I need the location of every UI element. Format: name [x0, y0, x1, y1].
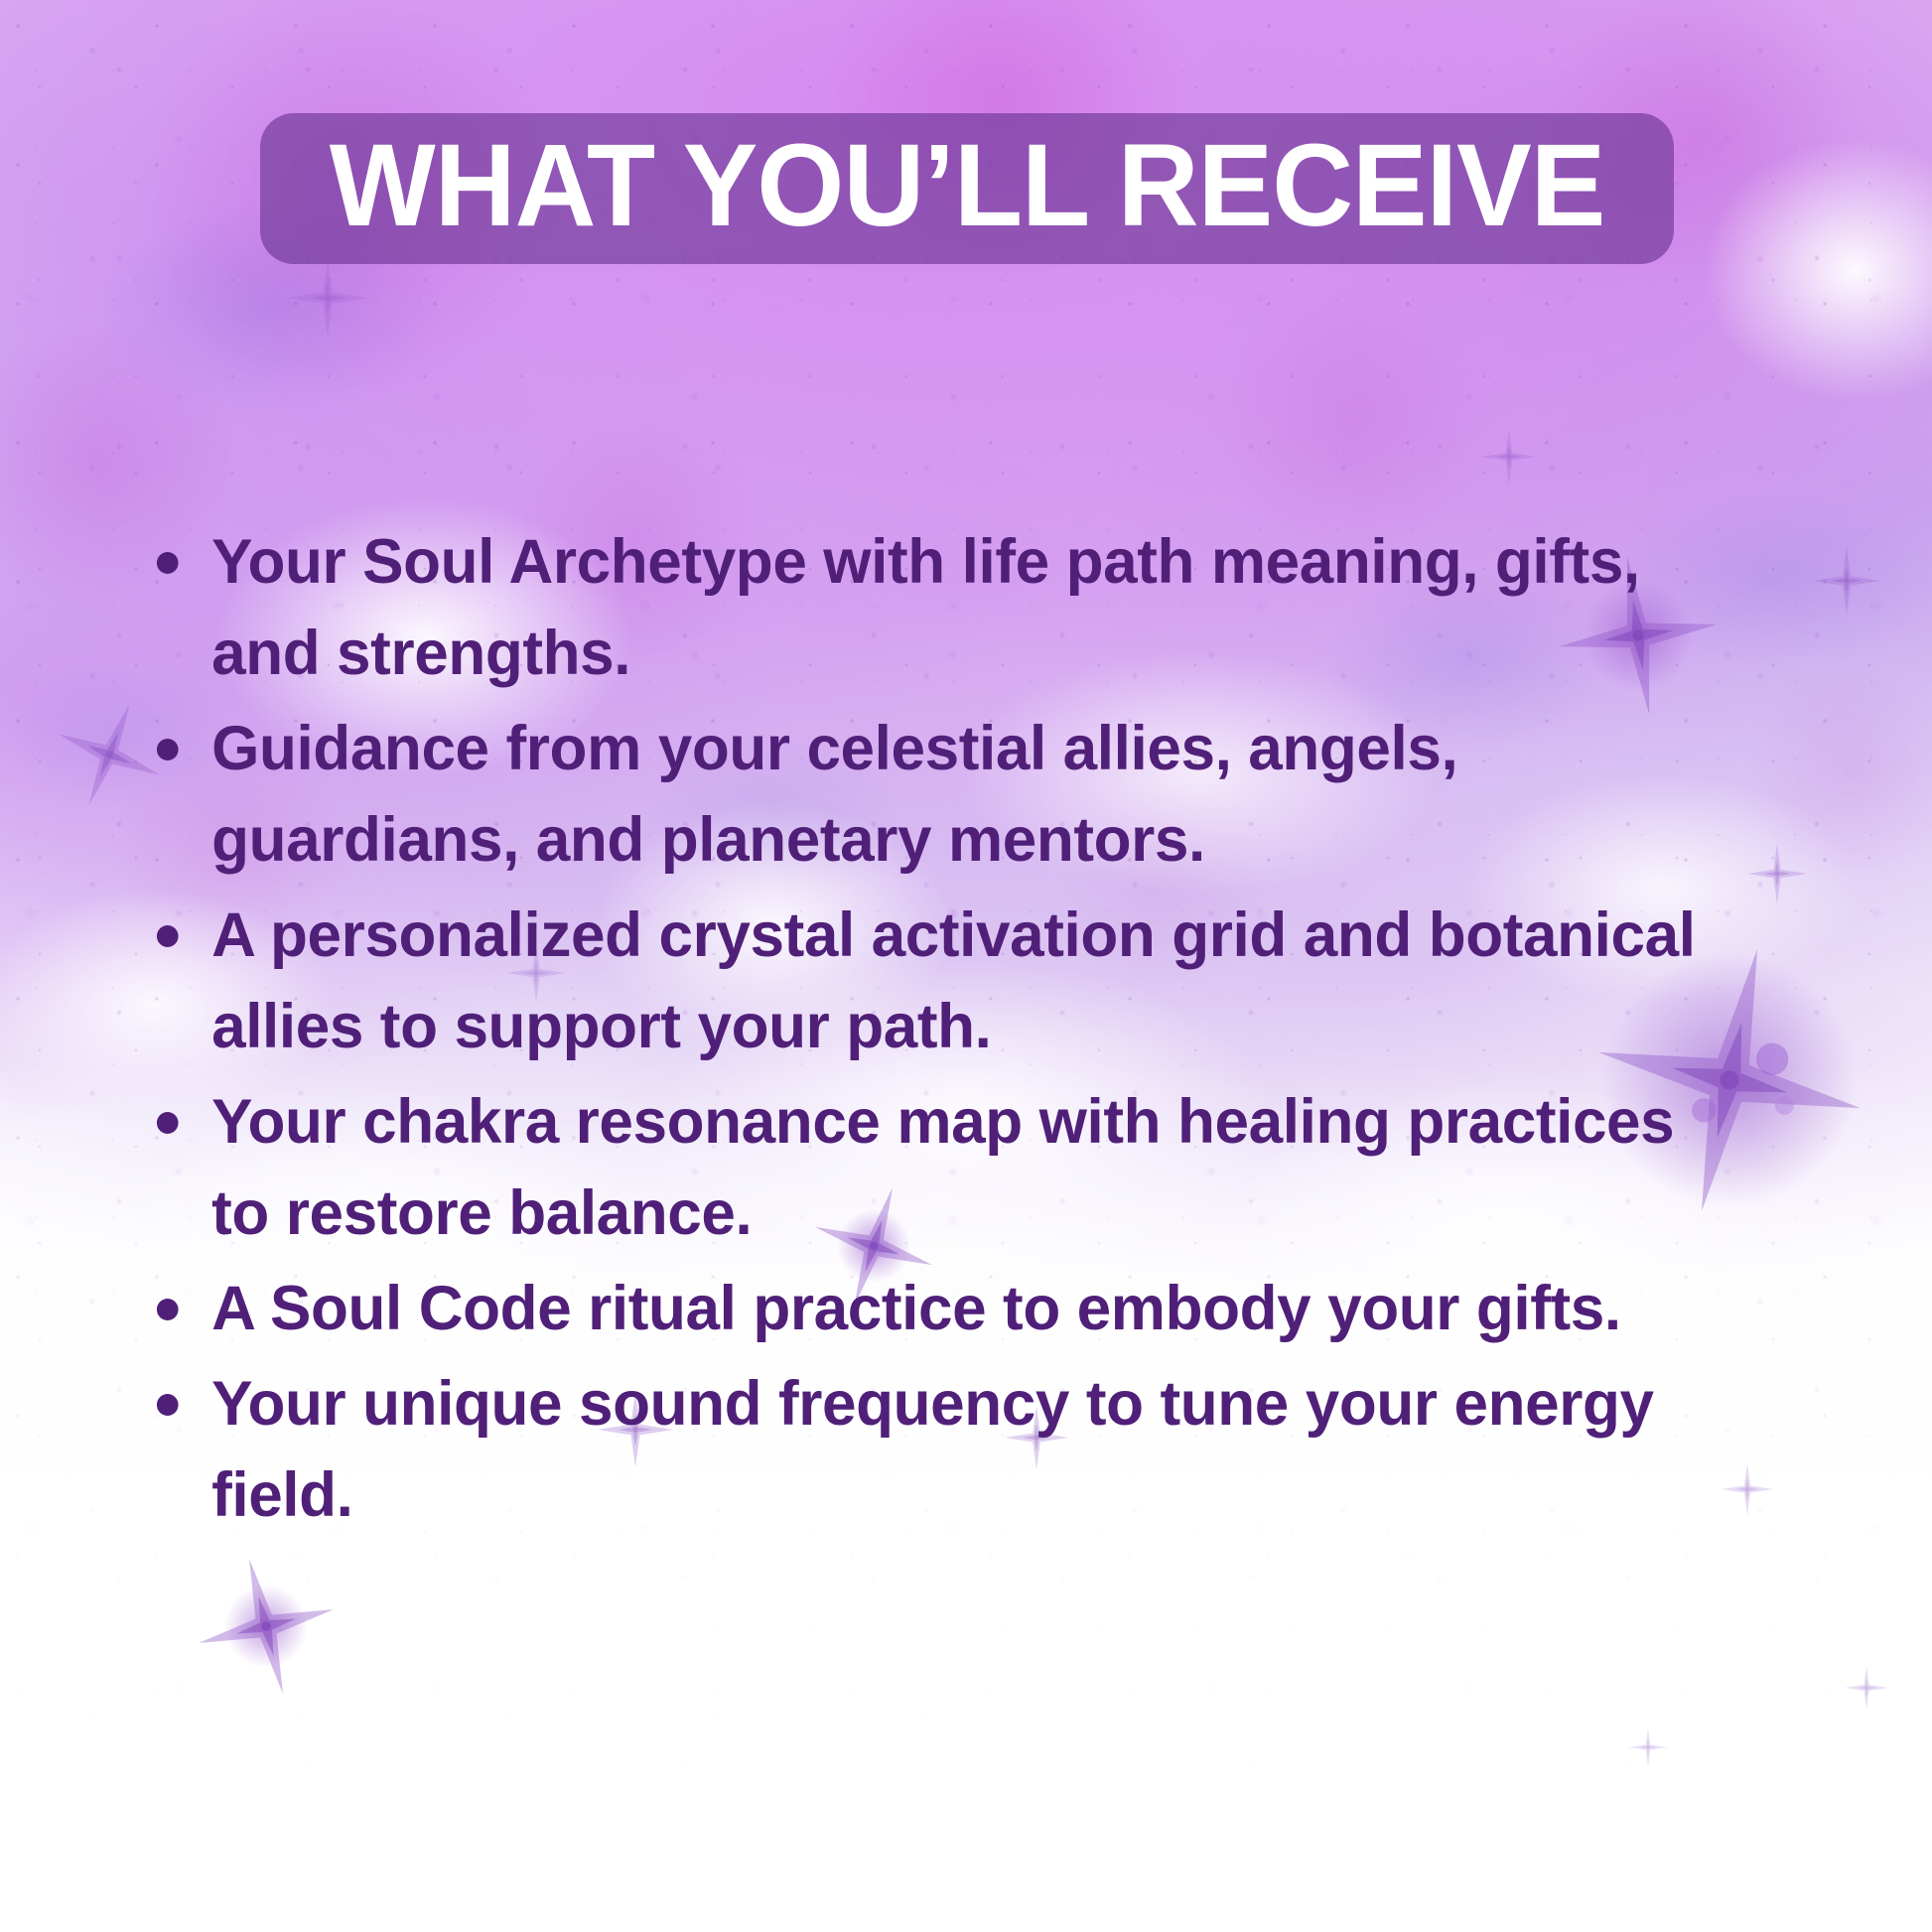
list-item: Your unique sound frequency to tune your… [151, 1358, 1735, 1541]
list-item: A personalized crystal activation grid a… [151, 890, 1735, 1072]
list-item-label: A Soul Code ritual practice to embody yo… [211, 1263, 1735, 1354]
list-item: A Soul Code ritual practice to embody yo… [151, 1263, 1735, 1354]
list-item-label: A personalized crystal activation grid a… [211, 890, 1735, 1072]
list-item-label: Guidance from your celestial allies, ang… [211, 703, 1735, 886]
bullet-dot-icon [157, 1112, 179, 1134]
poster-canvas: WHAT YOU’LL RECEIVE Your Soul Archetype … [0, 0, 1932, 1932]
list-item: Your Soul Archetype with life path meani… [151, 516, 1735, 699]
bullet-dot-icon [157, 925, 179, 947]
bullet-dot-icon [157, 1394, 179, 1416]
benefits-list: Your Soul Archetype with life path meani… [151, 516, 1759, 1545]
bullet-dot-icon [157, 1299, 179, 1320]
list-item-label: Your Soul Archetype with life path meani… [211, 516, 1735, 699]
list-item: Guidance from your celestial allies, ang… [151, 703, 1735, 886]
bullet-dot-icon [157, 552, 179, 574]
bullet-dot-icon [157, 739, 179, 760]
list-item: Your chakra resonance map with healing p… [151, 1076, 1735, 1259]
list-item-label: Your chakra resonance map with healing p… [211, 1076, 1735, 1259]
list-item-label: Your unique sound frequency to tune your… [211, 1358, 1735, 1541]
page-title: WHAT YOU’LL RECEIVE [330, 127, 1605, 250]
header-badge: WHAT YOU’LL RECEIVE [260, 113, 1674, 264]
